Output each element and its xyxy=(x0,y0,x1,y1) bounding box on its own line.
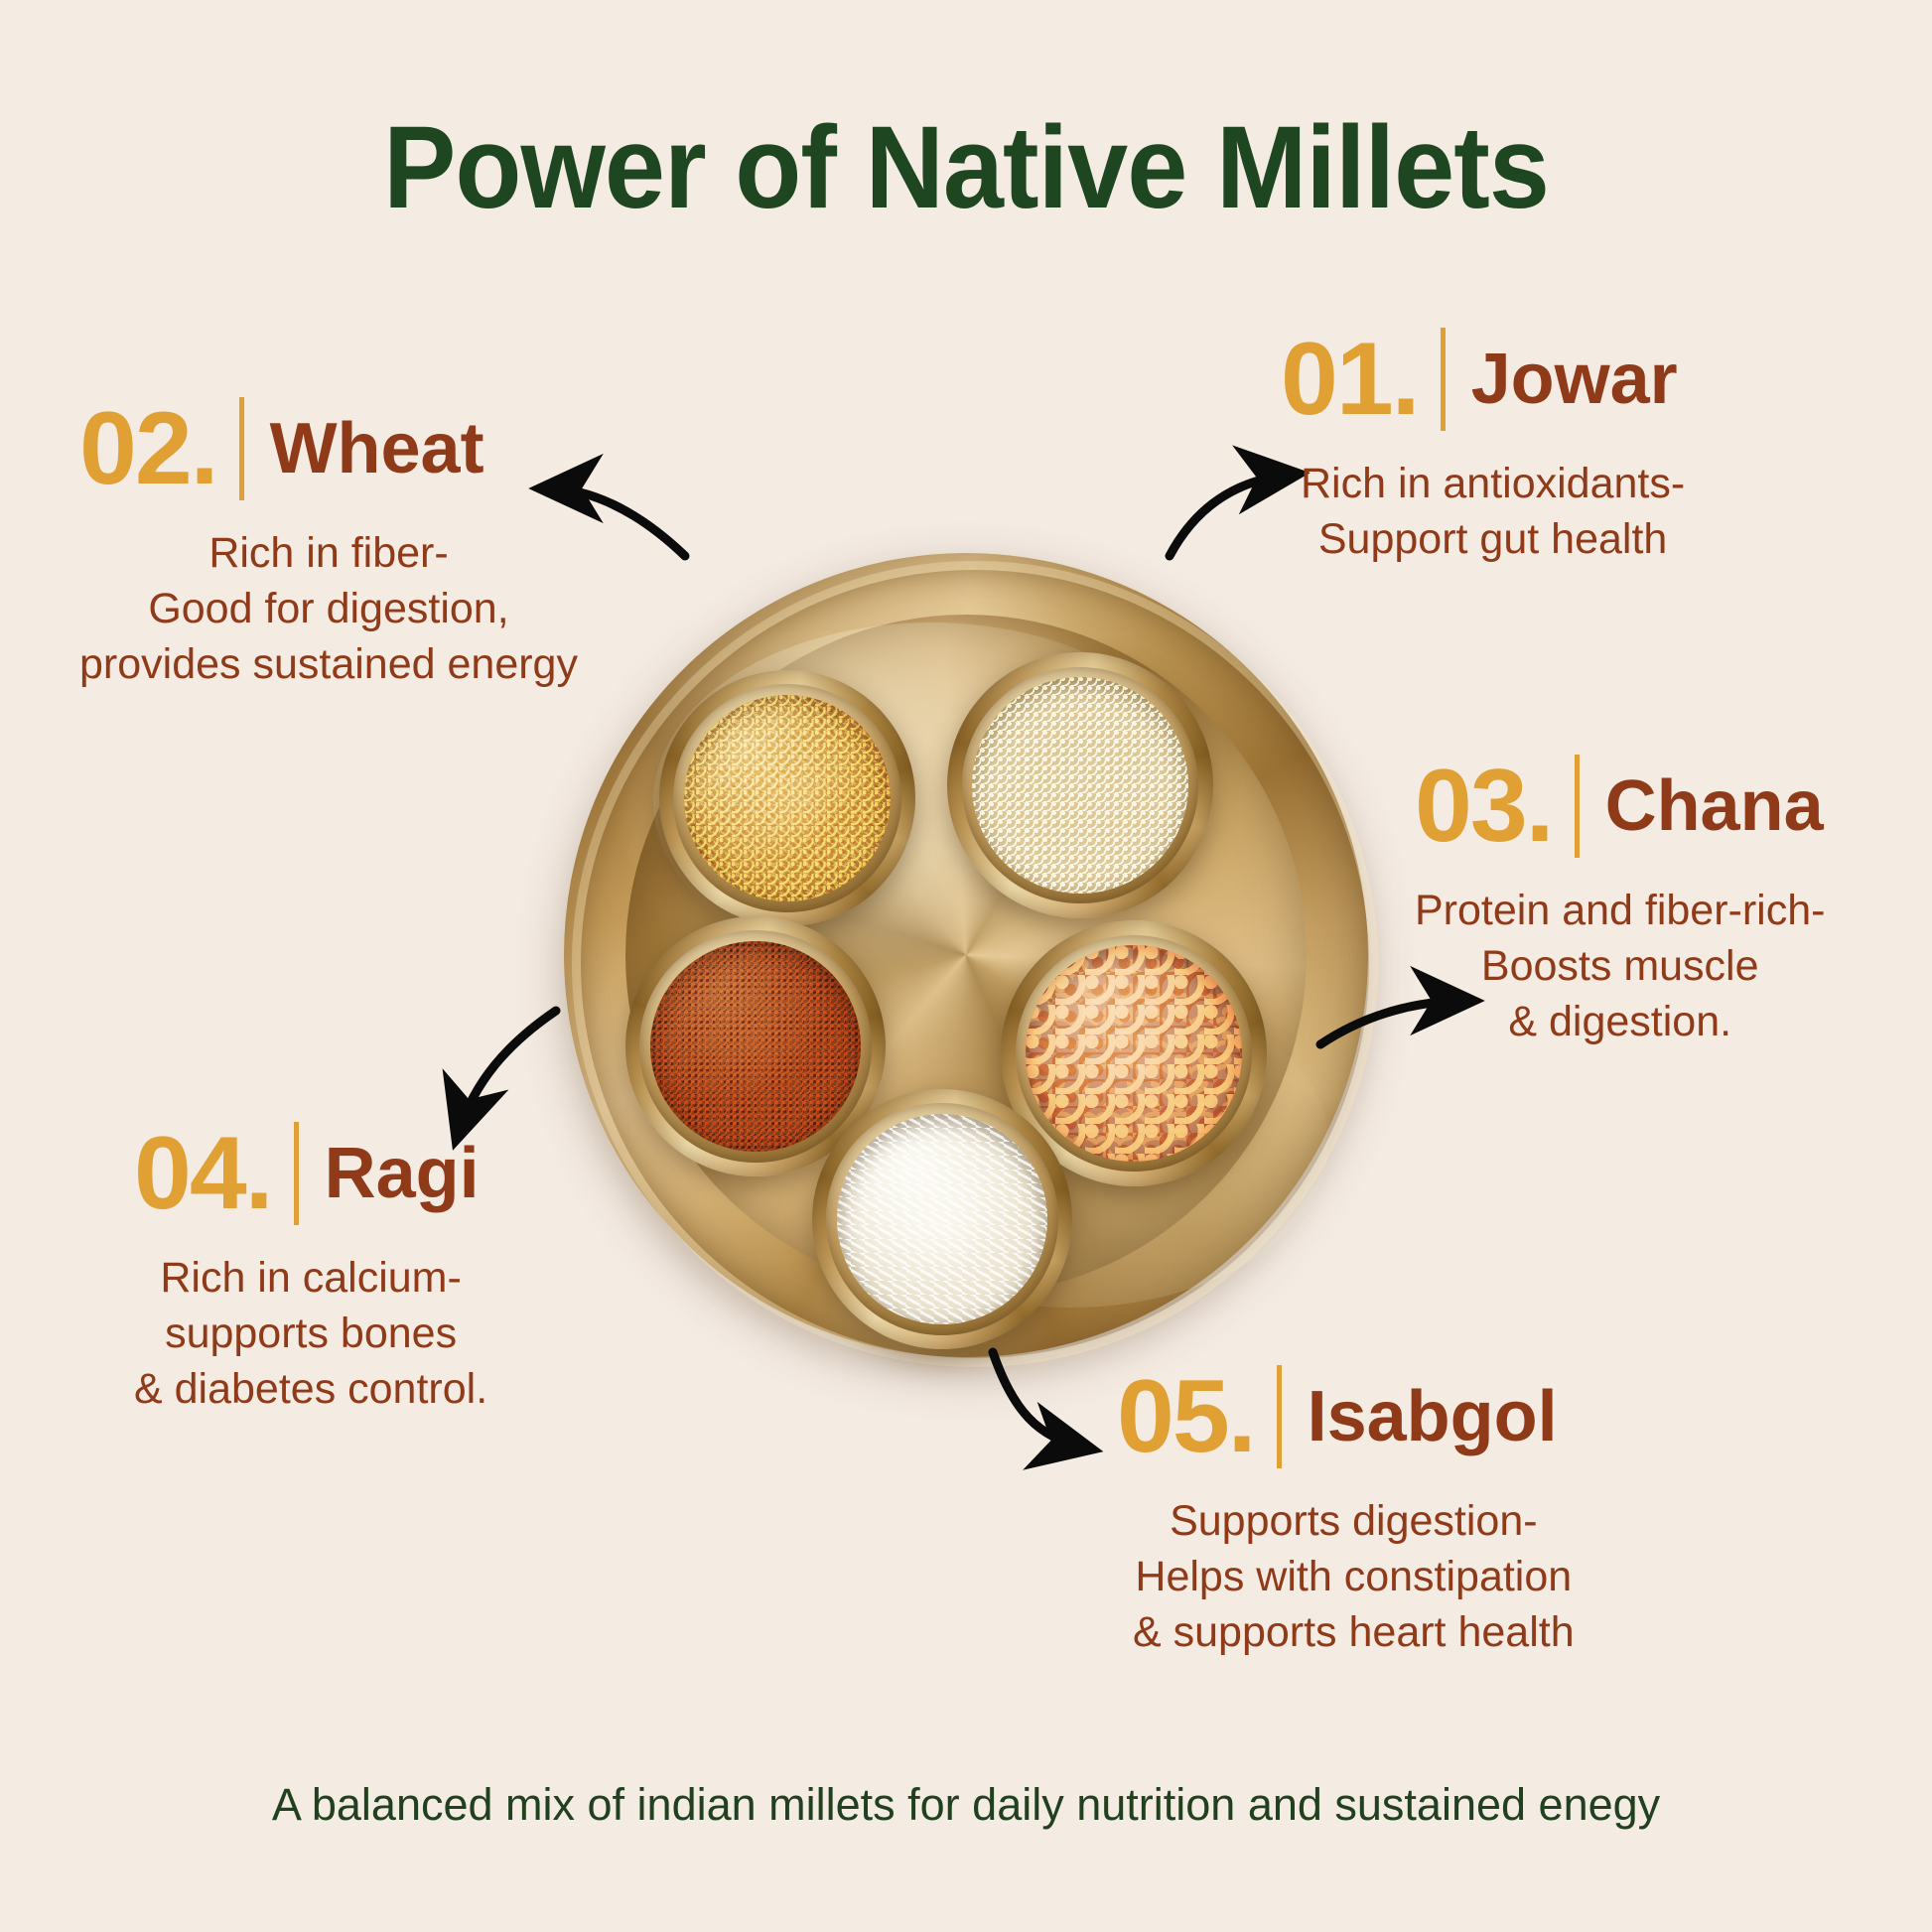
grain-texture xyxy=(972,677,1187,893)
page-caption: A balanced mix of indian millets for dai… xyxy=(0,1779,1932,1831)
wheat-bowl xyxy=(659,670,915,926)
callout-description: Supports digestion- Helps with constipat… xyxy=(1133,1494,1575,1661)
isabgol-bowl xyxy=(812,1089,1072,1349)
callout-number: 02. xyxy=(79,397,217,500)
callout-description: Rich in calcium- supports bones & diabet… xyxy=(134,1251,487,1418)
callout-number: 04. xyxy=(134,1122,272,1225)
callout-heading: 03. Chana xyxy=(1415,755,1825,858)
callout-name: Jowar xyxy=(1471,344,1678,415)
callout-divider xyxy=(1277,1365,1282,1468)
callout-description: Rich in antioxidants- Support gut health xyxy=(1301,457,1685,568)
grain-texture xyxy=(837,1114,1047,1324)
callout-divider xyxy=(239,397,244,500)
wheat-grains xyxy=(684,695,892,902)
page-title: Power of Native Millets xyxy=(68,107,1864,230)
chana-grains xyxy=(1026,945,1241,1161)
grain-texture xyxy=(684,695,892,902)
callout-name: Isabgol xyxy=(1308,1381,1558,1452)
callout-divider xyxy=(1441,328,1446,431)
callout-name: Wheat xyxy=(270,413,484,484)
infographic-canvas: Power of Native Millets xyxy=(0,0,1932,1932)
callout-description: Rich in fiber- Good for digestion, provi… xyxy=(79,526,578,693)
grain-texture xyxy=(1026,945,1241,1161)
callout-heading: 01. Jowar xyxy=(1281,328,1685,431)
callout-ragi: 04. Ragi Rich in calcium- supports bones… xyxy=(134,1122,487,1418)
grain-texture xyxy=(650,941,861,1152)
callout-number: 03. xyxy=(1415,755,1553,858)
ragi-grains xyxy=(650,941,861,1152)
callout-number: 01. xyxy=(1281,328,1419,431)
jowar-bowl xyxy=(947,652,1213,918)
callout-heading: 02. Wheat xyxy=(79,397,578,500)
callout-name: Chana xyxy=(1605,770,1824,842)
arrow-to-jowar xyxy=(1170,475,1291,556)
callout-wheat: 02. Wheat Rich in fiber- Good for digest… xyxy=(79,397,578,693)
thali-plate xyxy=(564,553,1368,1357)
callout-number: 05. xyxy=(1117,1365,1255,1468)
callout-divider xyxy=(294,1122,299,1225)
arrow-to-ragi xyxy=(459,1011,556,1132)
callout-description: Protein and fiber-rich- Boosts muscle & … xyxy=(1415,884,1825,1050)
jowar-grains xyxy=(972,677,1187,893)
callout-name: Ragi xyxy=(325,1138,480,1209)
callout-jowar: 01. Jowar Rich in antioxidants- Support … xyxy=(1281,328,1685,568)
callout-divider xyxy=(1575,755,1580,858)
arrow-to-isabgol xyxy=(993,1352,1084,1448)
isabgol-grains xyxy=(837,1114,1047,1324)
callout-heading: 04. Ragi xyxy=(134,1122,487,1225)
callout-isabgol: 05. Isabgol Supports digestion- Helps wi… xyxy=(1117,1365,1575,1661)
callout-heading: 05. Isabgol xyxy=(1117,1365,1575,1468)
callout-chana: 03. Chana Protein and fiber-rich- Boosts… xyxy=(1415,755,1825,1050)
